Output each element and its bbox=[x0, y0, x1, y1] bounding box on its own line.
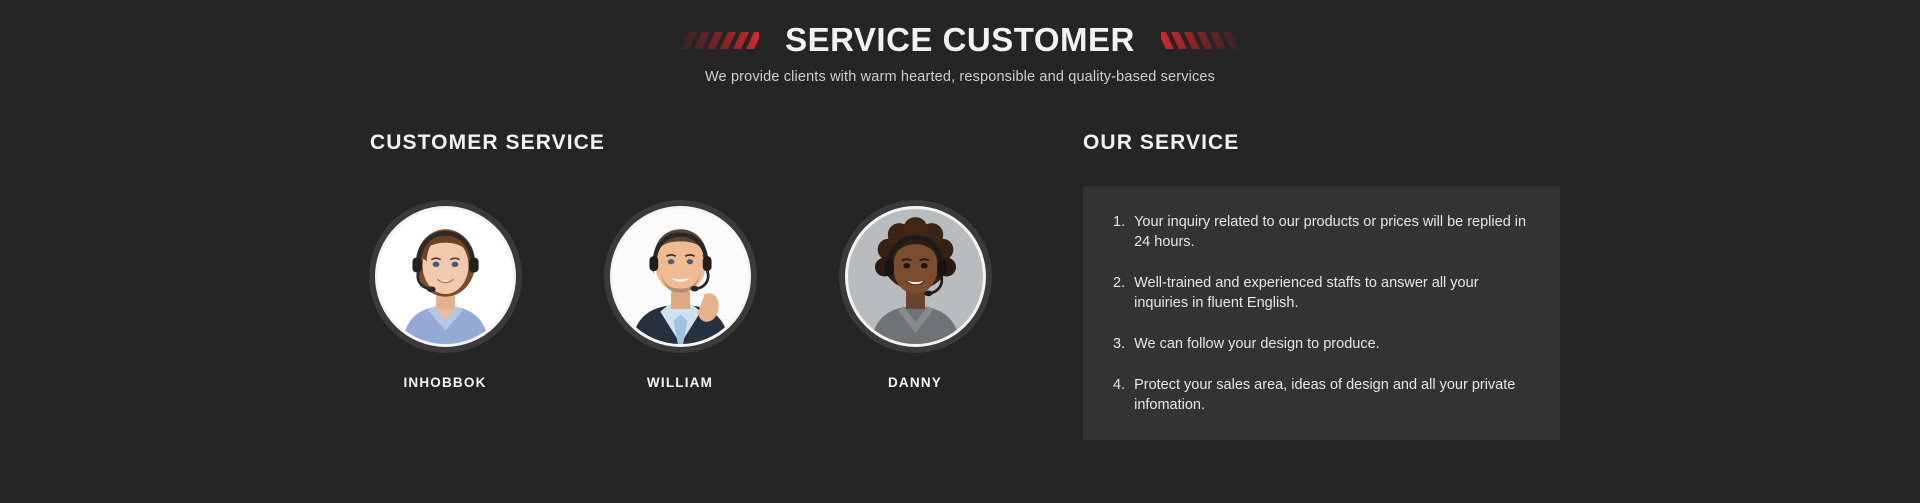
avatar-ring bbox=[369, 200, 522, 353]
service-item-text: Well-trained and experienced staffs to a… bbox=[1134, 273, 1530, 313]
avatar-ring bbox=[604, 200, 757, 353]
service-list: 1. Your inquiry related to our products … bbox=[1113, 212, 1530, 415]
avatar bbox=[845, 206, 986, 347]
our-service-panel: 1. Your inquiry related to our products … bbox=[1083, 186, 1560, 440]
team-member[interactable]: DANNY bbox=[830, 200, 1000, 390]
avatar bbox=[375, 206, 516, 347]
title-row: SERVICE CUSTOMER bbox=[0, 16, 1920, 64]
page-title: SERVICE CUSTOMER bbox=[785, 21, 1135, 59]
diagonal-stripes-left-icon bbox=[681, 32, 759, 49]
customer-service-heading: CUSTOMER SERVICE bbox=[370, 131, 605, 155]
section-header: SERVICE CUSTOMER bbox=[0, 0, 1920, 85]
service-item-number: 4. bbox=[1113, 375, 1125, 415]
service-item-text: Your inquiry related to our products or … bbox=[1134, 212, 1530, 252]
team-member[interactable]: INHOBBOK bbox=[360, 200, 530, 390]
avatar bbox=[610, 206, 751, 347]
team-member-name: DANNY bbox=[888, 375, 942, 390]
team-list: INHOBBOK bbox=[360, 200, 1000, 390]
team-member-name: INHOBBOK bbox=[403, 375, 486, 390]
service-customer-section: SERVICE CUSTOMER bbox=[0, 0, 1920, 503]
service-item-text: Protect your sales area, ideas of design… bbox=[1134, 375, 1530, 415]
service-list-item: 2. Well-trained and experienced staffs t… bbox=[1113, 273, 1530, 313]
service-list-item: 3. We can follow your design to produce. bbox=[1113, 334, 1530, 354]
service-item-number: 3. bbox=[1113, 334, 1125, 354]
avatar-ring bbox=[839, 200, 992, 353]
diagonal-stripes-right-icon bbox=[1161, 32, 1239, 49]
service-list-item: 1. Your inquiry related to our products … bbox=[1113, 212, 1530, 252]
service-item-text: We can follow your design to produce. bbox=[1134, 334, 1530, 354]
service-item-number: 1. bbox=[1113, 212, 1125, 252]
section-subtitle: We provide clients with warm hearted, re… bbox=[0, 69, 1920, 85]
our-service-heading: OUR SERVICE bbox=[1083, 131, 1239, 155]
team-member[interactable]: WILLIAM bbox=[595, 200, 765, 390]
service-list-item: 4. Protect your sales area, ideas of des… bbox=[1113, 375, 1530, 415]
service-item-number: 2. bbox=[1113, 273, 1125, 313]
team-member-name: WILLIAM bbox=[647, 375, 713, 390]
